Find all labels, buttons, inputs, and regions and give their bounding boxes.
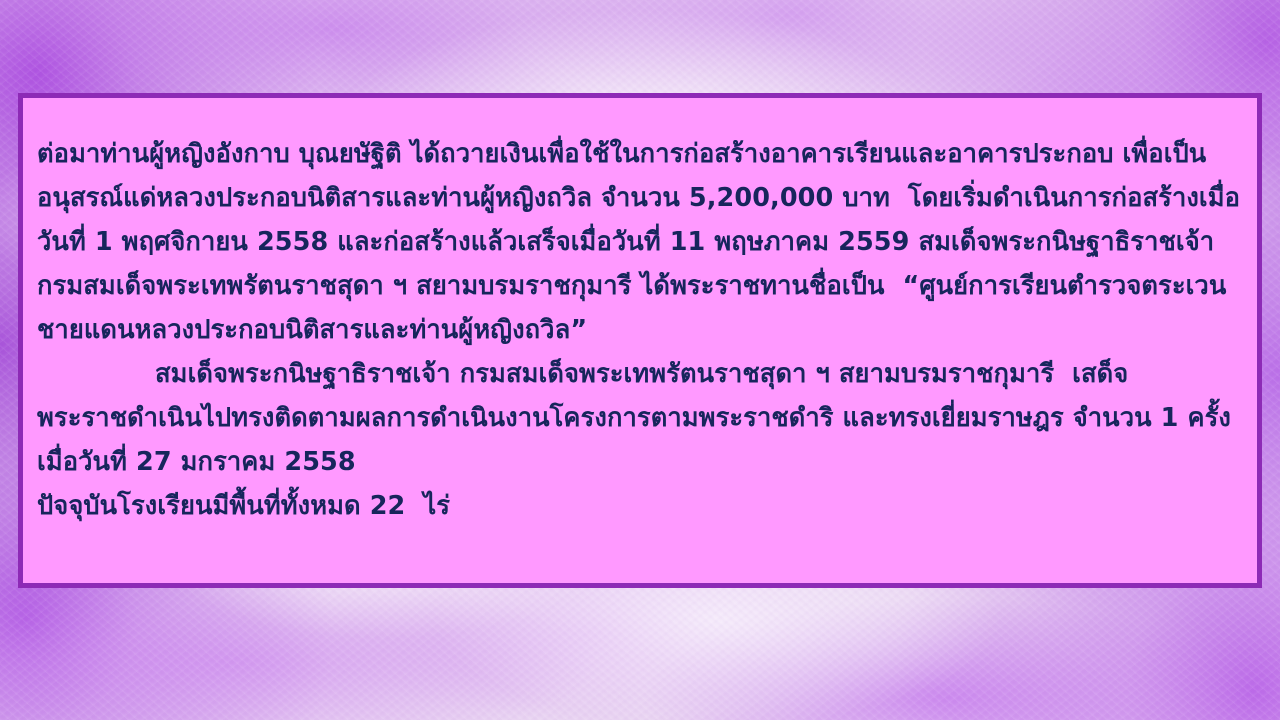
text-content-panel: ต่อมาท่านผู้หญิงอังกาบ บุณยษัฐิติ ได้ถวา… bbox=[18, 93, 1262, 588]
paragraph-text: ปัจจุบันโรงเรียนมีพื้นที่ทั้งหมด 22 ไร่ bbox=[37, 491, 450, 521]
paragraph-donation-history: ต่อมาท่านผู้หญิงอังกาบ บุณยษัฐิติ ได้ถวา… bbox=[37, 132, 1241, 352]
paragraph-text: ต่อมาท่านผู้หญิงอังกาบ บุณยษัฐิติ ได้ถวา… bbox=[37, 139, 1240, 345]
slide-canvas: ต่อมาท่านผู้หญิงอังกาบ บุณยษัฐิติ ได้ถวา… bbox=[0, 0, 1280, 720]
paragraph-royal-visit: สมเด็จพระกนิษฐาธิราชเจ้า กรมสมเด็จพระเทพ… bbox=[37, 352, 1241, 484]
slide-body-text: ต่อมาท่านผู้หญิงอังกาบ บุณยษัฐิติ ได้ถวา… bbox=[37, 132, 1241, 528]
paragraph-school-area: ปัจจุบันโรงเรียนมีพื้นที่ทั้งหมด 22 ไร่ bbox=[37, 484, 1241, 528]
paragraph-text: สมเด็จพระกนิษฐาธิราชเจ้า กรมสมเด็จพระเทพ… bbox=[37, 359, 1240, 477]
